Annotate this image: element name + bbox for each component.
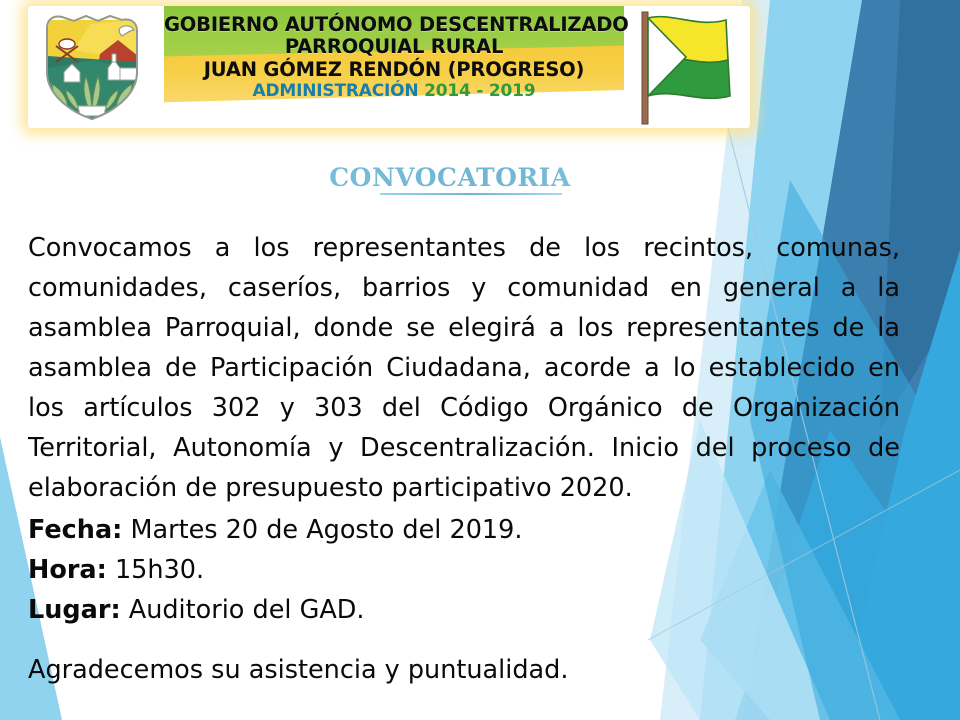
detail-label-hora: Hora: (28, 555, 107, 585)
detail-row-hora: Hora: 15h30. (28, 550, 728, 590)
administration-word: ADMINISTRACIÓN (253, 81, 419, 101)
slide-canvas: GOBIERNO AUTÓNOMO DESCENTRALIZADO PARROQ… (0, 0, 960, 720)
administration-years: 2014 - 2019 (424, 81, 535, 101)
banner-line-3: JUAN GÓMEZ RENDÓN (PROGRESO) (164, 59, 624, 81)
detail-value-lugar: Auditorio del GAD. (129, 595, 365, 625)
banner-line-1: GOBIERNO AUTÓNOMO DESCENTRALIZADO (164, 14, 624, 36)
banner-title-block: GOBIERNO AUTÓNOMO DESCENTRALIZADO PARROQ… (164, 14, 624, 102)
detail-label-lugar: Lugar: (28, 595, 121, 625)
banner-line-administration: ADMINISTRACIÓN 2014 - 2019 (164, 82, 624, 101)
announcement-paragraph: Convocamos a los representantes de los r… (28, 228, 900, 508)
page-title: CONVOCATORIA (0, 163, 900, 192)
page-title-underline (380, 193, 562, 195)
flag-pole (642, 12, 648, 124)
detail-row-lugar: Lugar: Auditorio del GAD. (28, 590, 728, 630)
parish-flag-icon (630, 8, 742, 126)
closing-statement: Agradecemos su asistencia y puntualidad. (28, 650, 728, 690)
detail-value-hora: 15h30. (115, 555, 204, 585)
detail-label-fecha: Fecha: (28, 515, 122, 545)
coat-of-arms-icon (34, 10, 152, 124)
header-banner: GOBIERNO AUTÓNOMO DESCENTRALIZADO PARROQ… (28, 6, 750, 128)
announcement-body: Convocamos a los representantes de los r… (28, 228, 900, 508)
detail-value-fecha: Martes 20 de Agosto del 2019. (130, 515, 522, 545)
detail-row-fecha: Fecha: Martes 20 de Agosto del 2019. (28, 510, 728, 550)
banner-line-2: PARROQUIAL RURAL (164, 36, 624, 58)
event-details: Fecha: Martes 20 de Agosto del 2019. Hor… (28, 510, 728, 630)
